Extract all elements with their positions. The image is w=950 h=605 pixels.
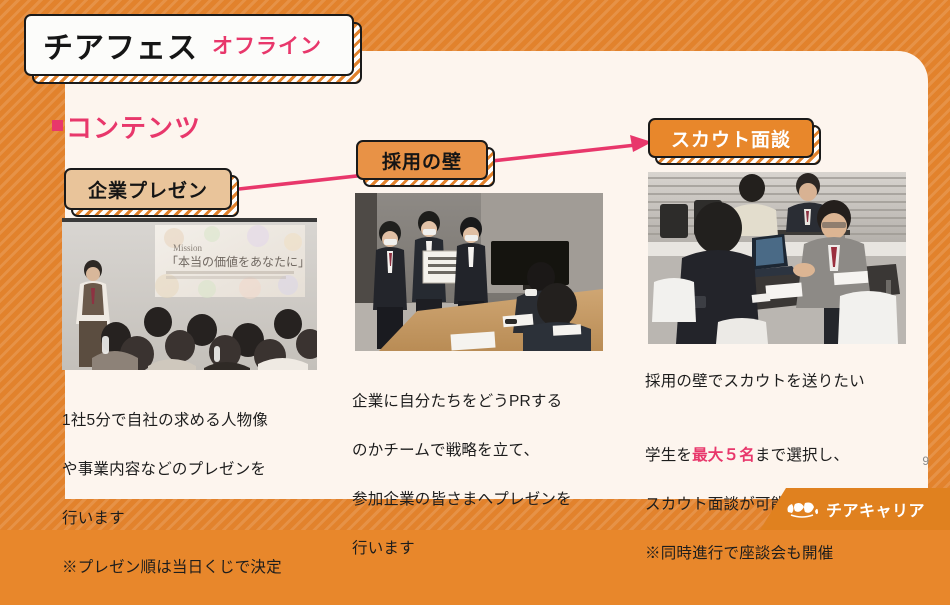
title-main-text: チアフェス — [43, 23, 198, 67]
caption-line: ※プレゼン順は当日くじで決定 — [62, 556, 332, 580]
caption-recruitment-wall: 企業に自分たちをどうPRする のかチームで戦略を立て、 参加企業の皆さまへプレゼ… — [352, 366, 632, 586]
chip-label: 採用の壁 — [382, 147, 462, 174]
chip-label: 企業プレゼン — [88, 176, 208, 203]
caption-line: 行います — [352, 537, 632, 561]
chip-face: スカウト面談 — [648, 118, 814, 158]
svg-text:Mission: Mission — [173, 243, 203, 253]
caption-pre: 学生を — [645, 447, 692, 464]
caption-line: 企業に自分たちをどうPRする — [352, 390, 632, 414]
title-plate-face: チアフェス オフライン — [24, 14, 354, 76]
photo-scout-interview — [648, 172, 906, 344]
section-heading: コンテンツ — [52, 108, 201, 145]
slide-background: チアフェス オフライン コンテンツ — [0, 0, 950, 530]
slide-title-plate: チアフェス オフライン — [24, 14, 354, 76]
caption-line: のかチームで戦略を立て、 — [352, 439, 632, 463]
caption-line: 1社5分で自社の求める人物像 — [62, 409, 332, 433]
photo-company-presentation: Mission 「本当の価値をあなたに」 — [62, 218, 317, 370]
cheer-mark-icon — [785, 499, 819, 519]
footer-logo-text: チアキャリア — [826, 497, 925, 521]
caption-line: 採用の壁でスカウトを送りたい — [645, 370, 925, 394]
caption-line: 行います — [62, 507, 332, 531]
step-chip-company-presentation[interactable]: 企業プレゼン — [64, 168, 232, 210]
square-bullet-icon — [52, 120, 63, 131]
page-number: 9 — [922, 454, 929, 468]
caption-line-highlighted: 学生を最大５名まで選択し、 — [645, 419, 925, 468]
title-sub-text: オフライン — [212, 30, 322, 60]
svg-text:「本当の価値をあなたに」: 「本当の価値をあなたに」 — [166, 254, 310, 269]
footer-logo: チアキャリア — [760, 488, 950, 530]
caption-line: や事業内容などのプレゼンを — [62, 458, 332, 482]
step-chip-scout-interview[interactable]: スカウト面談 — [648, 118, 814, 158]
chip-face: 企業プレゼン — [64, 168, 232, 210]
step-chip-recruitment-wall[interactable]: 採用の壁 — [356, 140, 488, 180]
caption-line: 参加企業の皆さまへプレゼンを — [352, 488, 632, 512]
caption-scout-interview: 採用の壁でスカウトを送りたい 学生を最大５名まで選択し、 スカウト面談が可能 ※… — [645, 346, 925, 591]
section-heading-text: コンテンツ — [66, 108, 201, 145]
photo-recruitment-wall — [355, 193, 603, 351]
caption-highlight: 最大５名 — [692, 447, 755, 464]
caption-post: まで選択し、 — [755, 447, 849, 464]
caption-company-presentation: 1社5分で自社の求める人物像 や事業内容などのプレゼンを 行います ※プレゼン順… — [62, 385, 332, 605]
chip-label: スカウト面談 — [671, 125, 791, 152]
chip-face: 採用の壁 — [356, 140, 488, 180]
caption-line: ※同時進行で座談会も開催 — [645, 542, 925, 566]
